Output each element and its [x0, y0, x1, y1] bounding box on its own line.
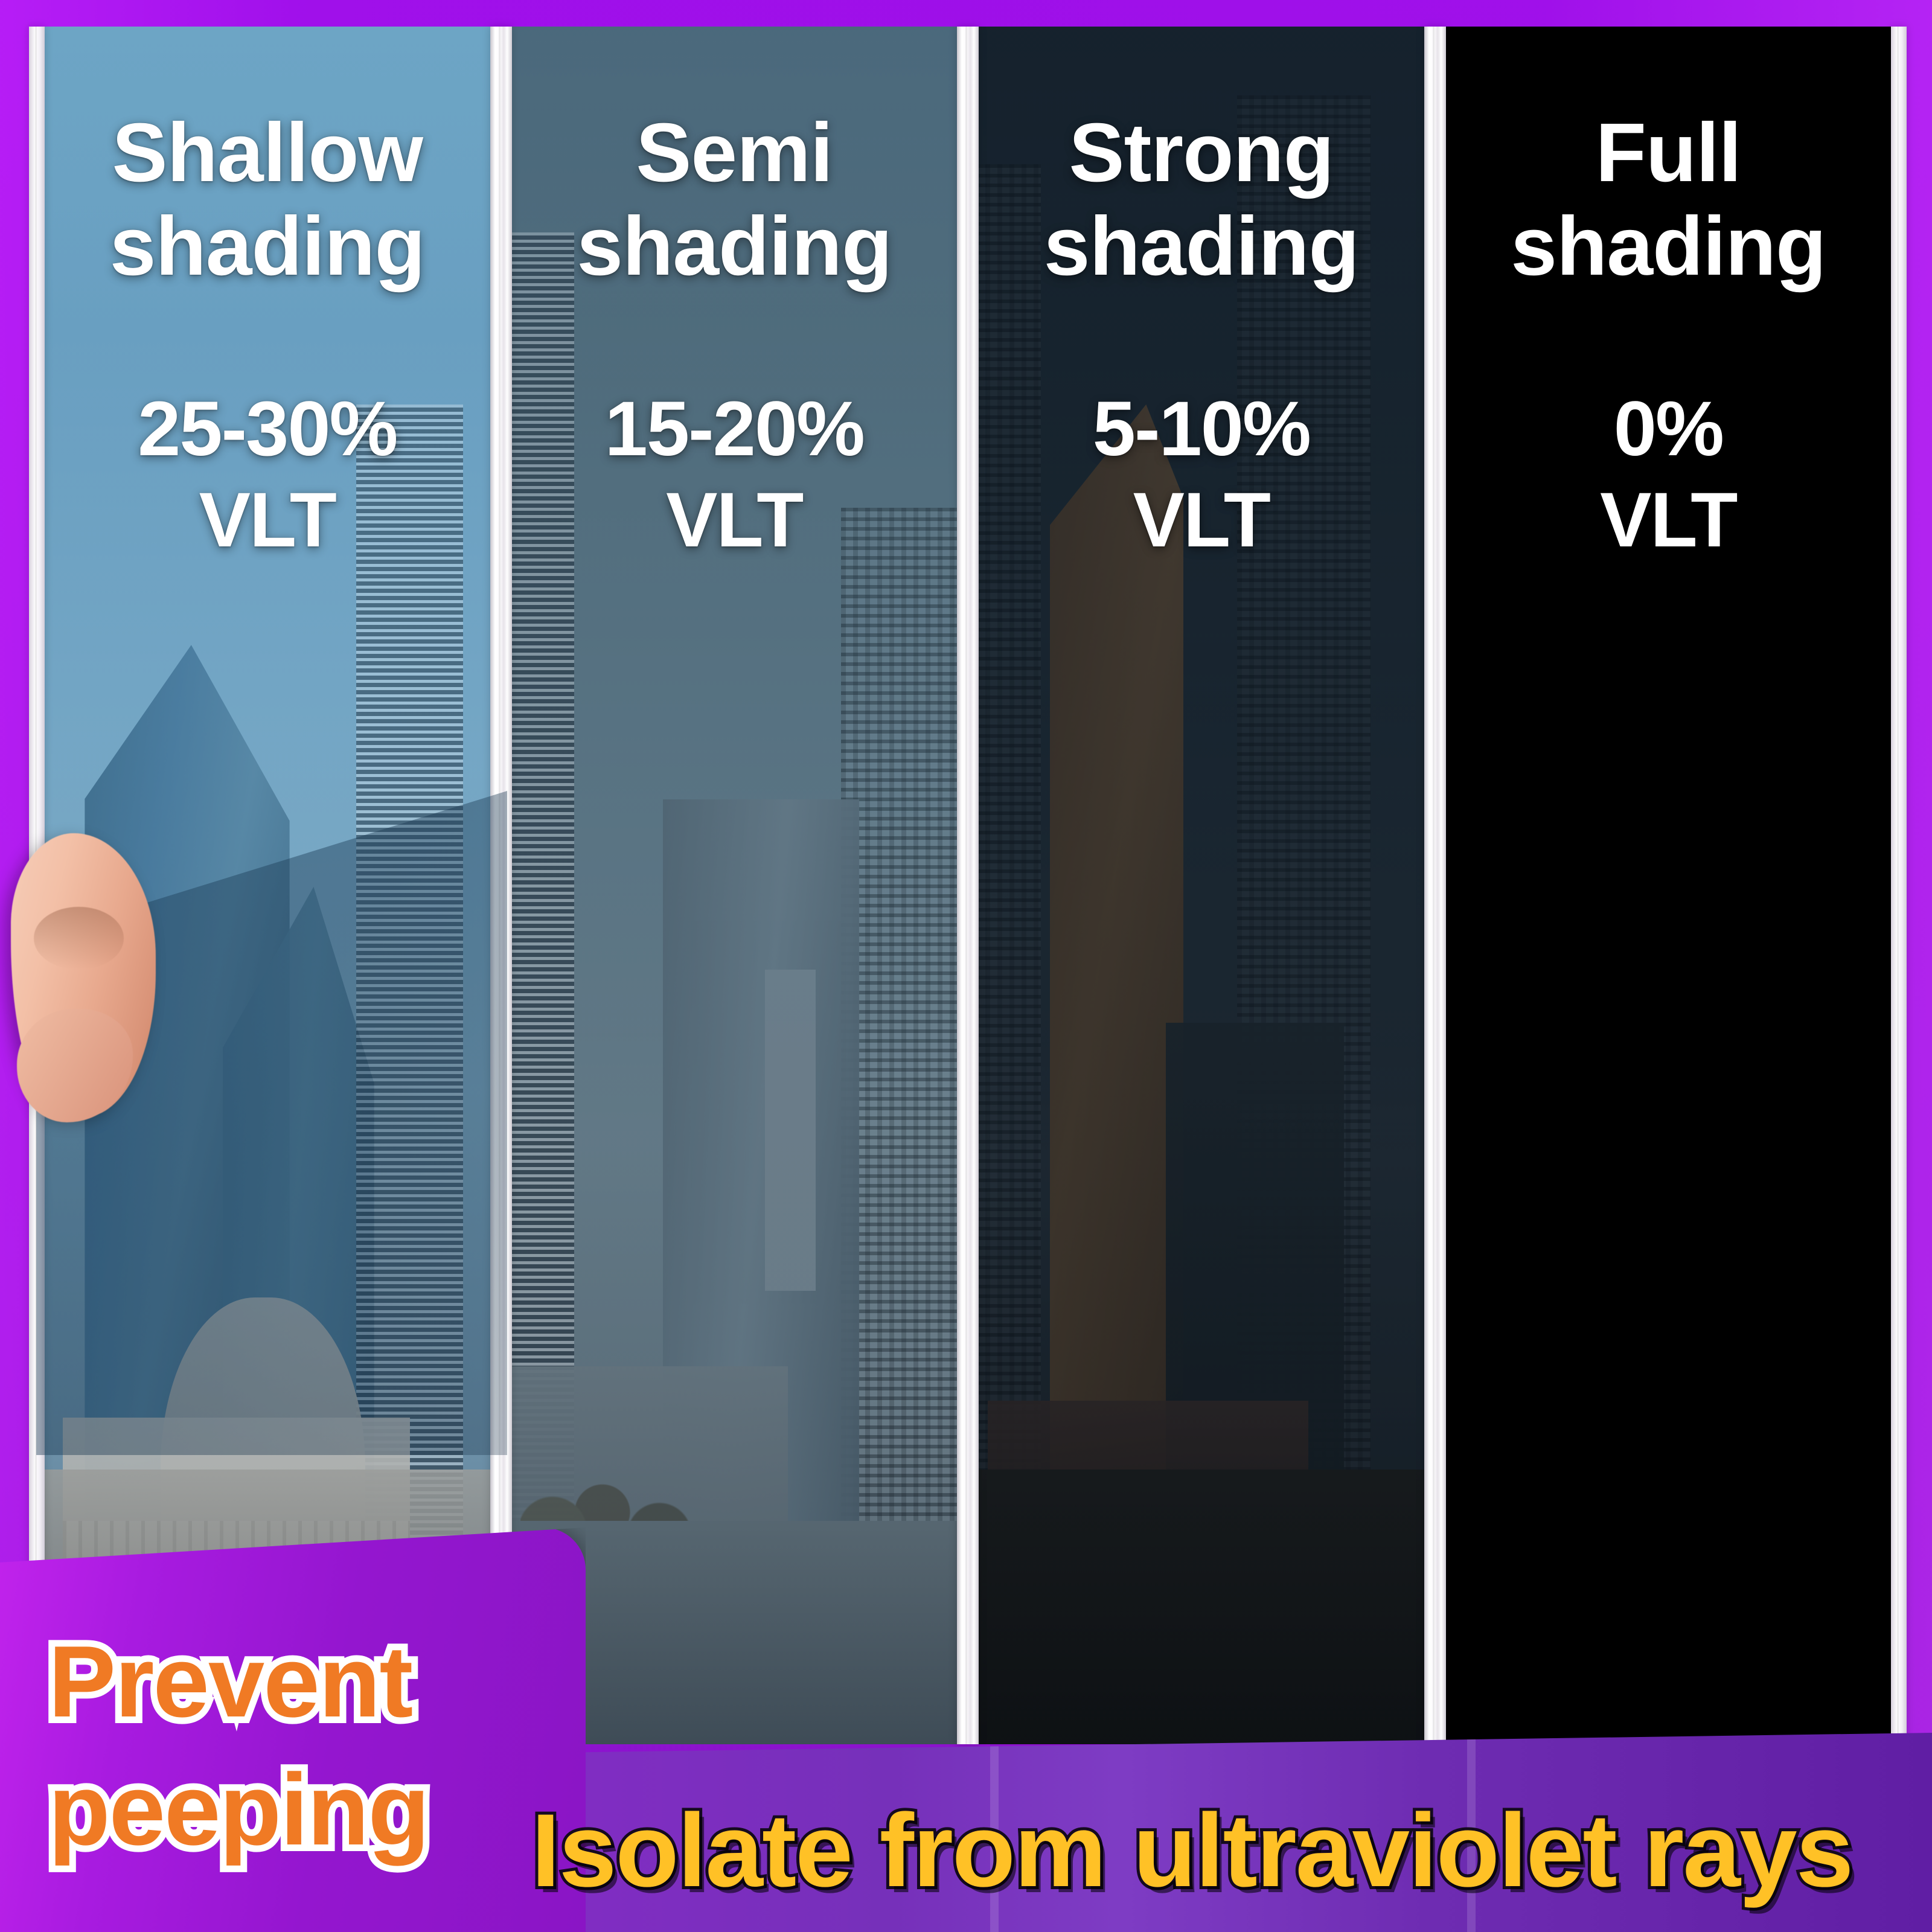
street-level [979, 1470, 1424, 1744]
prevent-peeping-text: Prevent peeping [48, 1618, 525, 1873]
building-aperture [765, 970, 816, 1291]
panel-labels-semi: Semi shading 15-20% VLT [512, 27, 958, 566]
panel-title: Strong shading [1044, 106, 1359, 293]
prevent-peeping-tag: Prevent peeping [0, 1527, 586, 1932]
panel-labels-full: Full shading 0% VLT [1446, 27, 1892, 566]
uv-benefit-text: Isolate from ultraviolet rays [531, 1791, 1852, 1910]
panel-vlt: 5-10% VLT [1093, 383, 1310, 566]
panel-labels-strong: Strong shading 5-10% VLT [979, 27, 1424, 566]
window-comparison: Shallow shading 25-30% VLT Semi shading … [29, 27, 1907, 1744]
panel-title: Semi shading [577, 106, 892, 293]
window-mullion-3 [1424, 27, 1446, 1744]
panel-vlt: 15-20% VLT [605, 383, 864, 566]
panel-labels-shallow: Shallow shading 25-30% VLT [45, 27, 490, 566]
panel-vlt: 0% VLT [1600, 383, 1736, 566]
panel-title: Full shading [1511, 106, 1826, 293]
hand-holding-film [11, 833, 156, 1117]
panel-semi-shading[interactable]: Semi shading 15-20% VLT [512, 27, 958, 1744]
panel-full-shading[interactable]: Full shading 0% VLT [1446, 27, 1892, 1744]
window-frame-right [1891, 27, 1907, 1744]
panel-vlt: 25-30% VLT [138, 383, 397, 566]
panel-title: Shallow shading [110, 106, 425, 293]
product-infographic: Shallow shading 25-30% VLT Semi shading … [0, 0, 1932, 1932]
panel-strong-shading[interactable]: Strong shading 5-10% VLT [979, 27, 1424, 1744]
window-mullion-1 [490, 27, 512, 1744]
window-mullion-2 [957, 27, 979, 1744]
